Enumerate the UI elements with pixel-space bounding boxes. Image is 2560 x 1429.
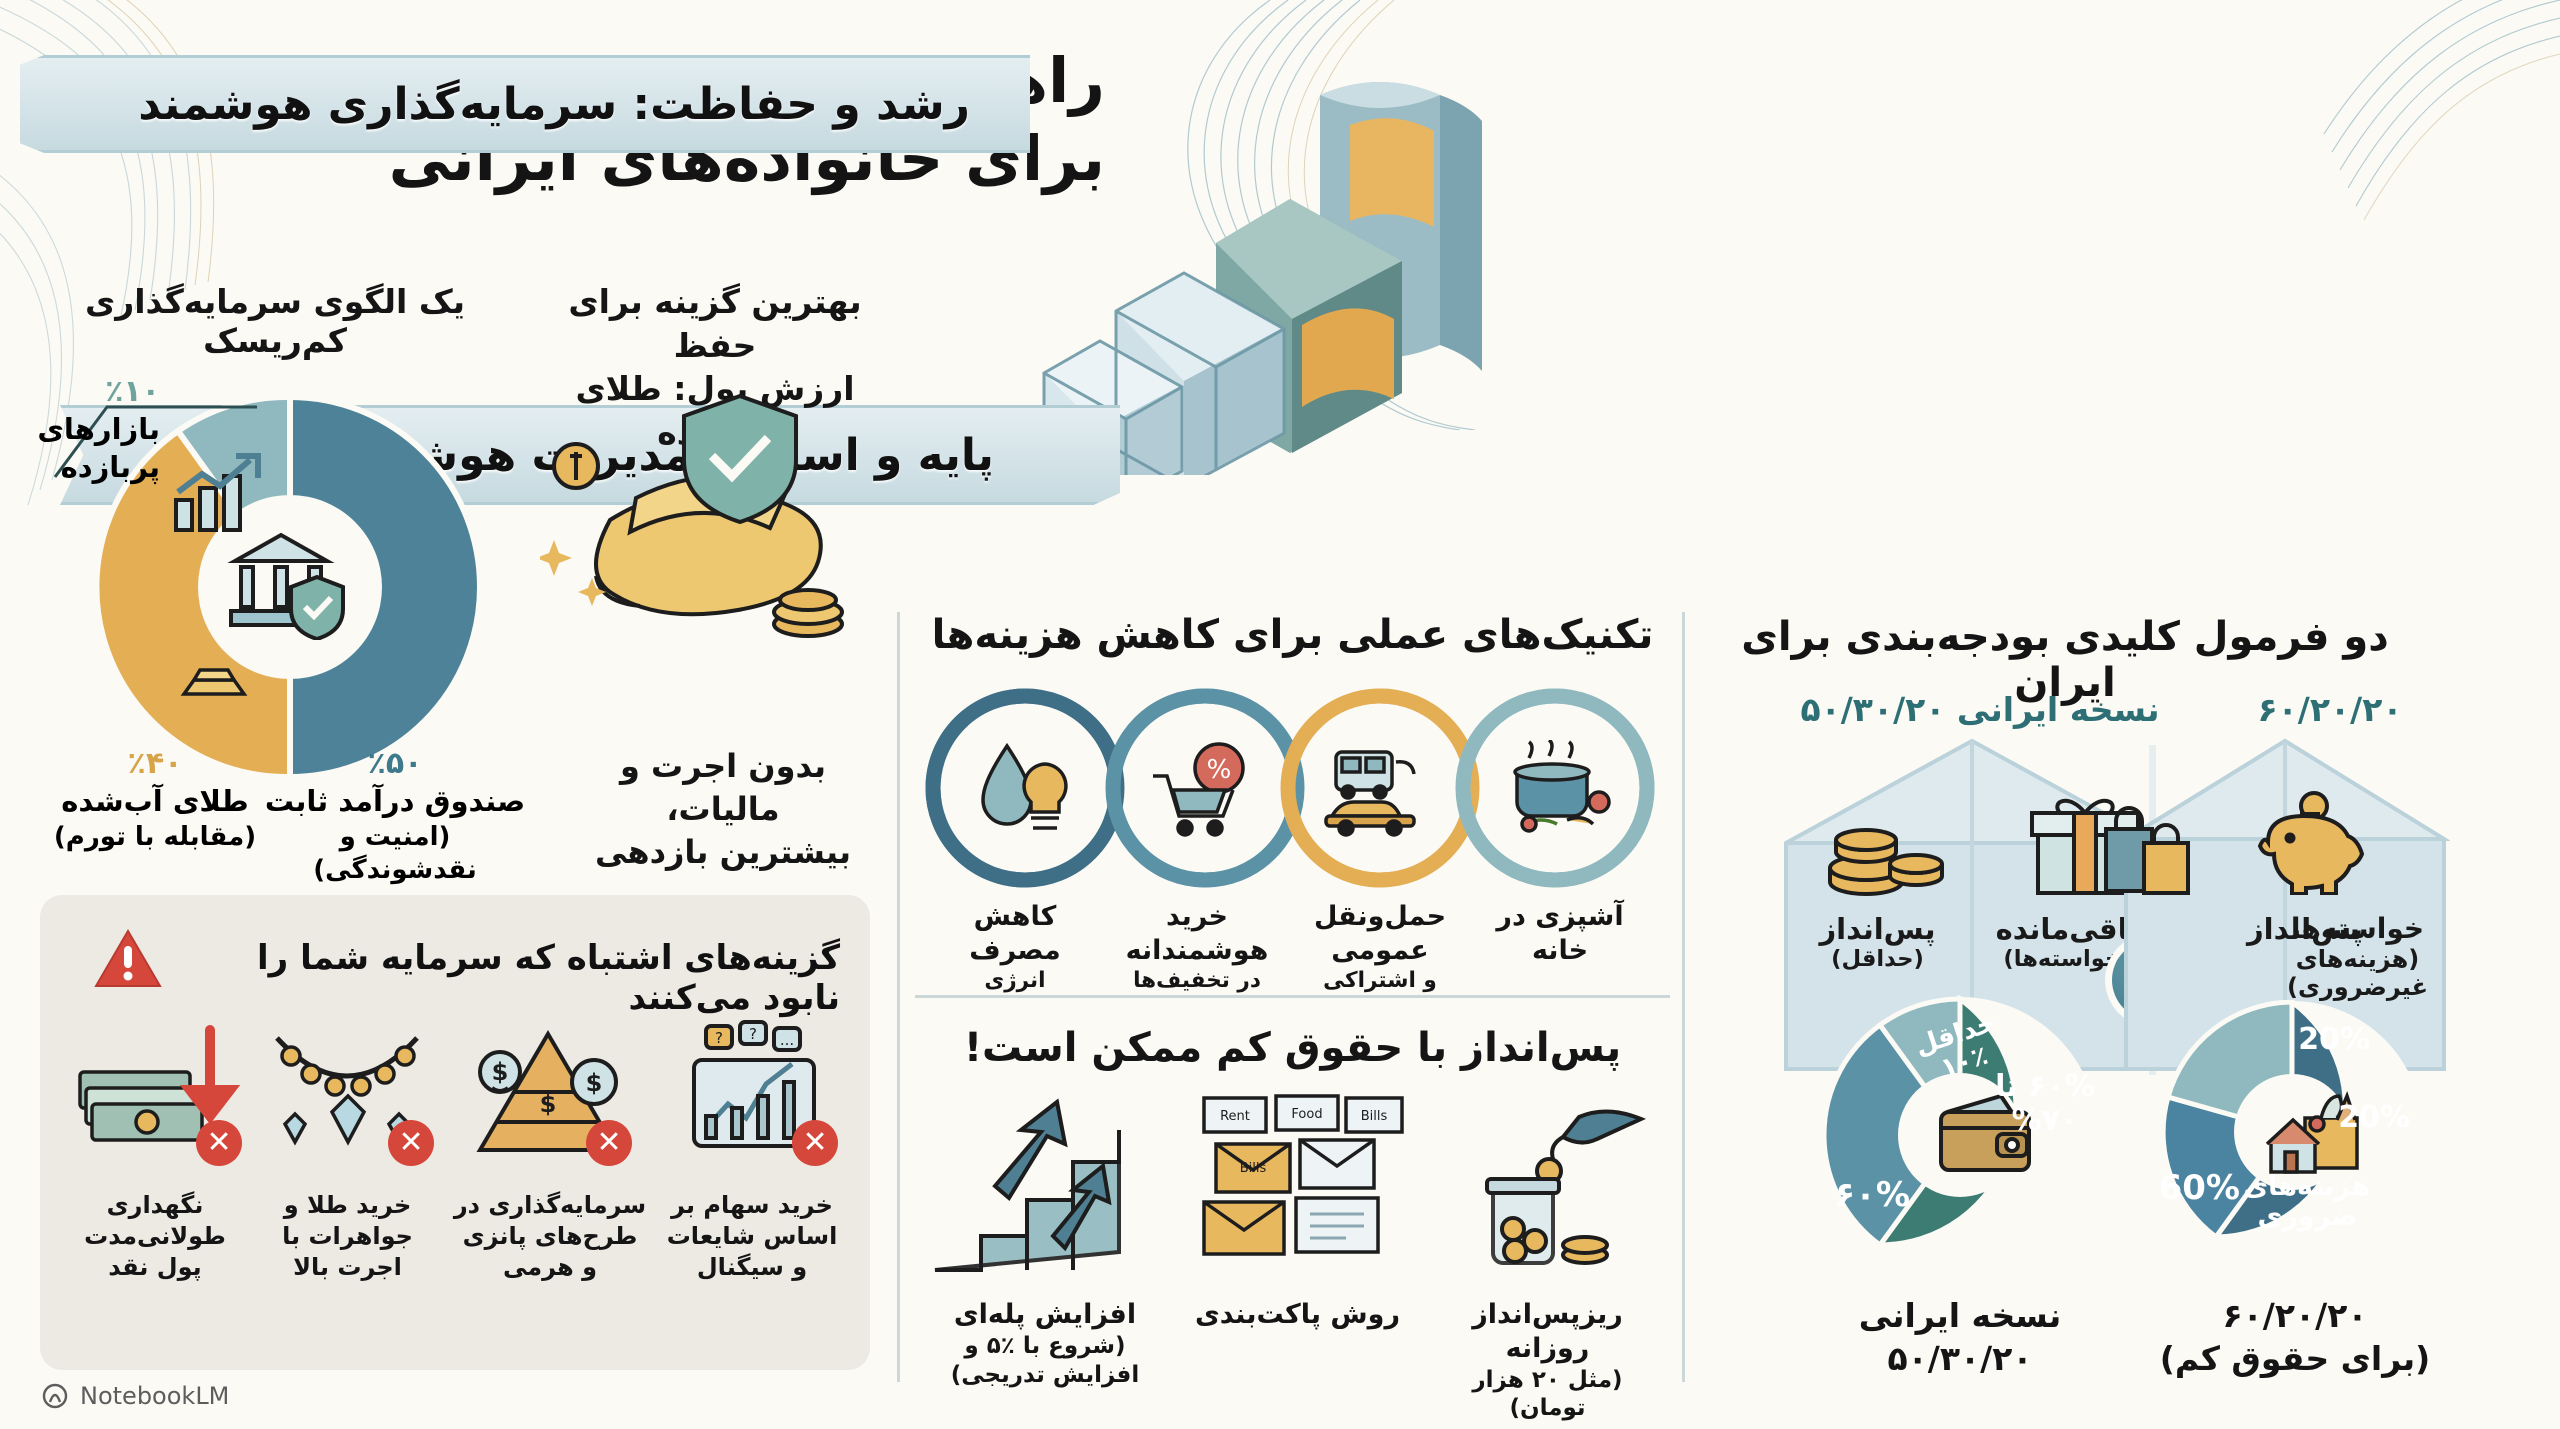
- warn-badge-cash: ✕: [196, 1120, 242, 1166]
- portfolio-legend-fixed-income: ٪۵۰ صندوق درآمد ثابت (امنیت و نقدشوندگی): [260, 744, 530, 888]
- warnings-title: گزینه‌های اشتباه که سرمایه شما را نابود …: [180, 938, 840, 1018]
- house-label-savings-min-main: پس‌انداز: [1790, 912, 1965, 946]
- cost-cutting-label-smart-shopping-text: خرید هوشمندانه: [1126, 901, 1269, 966]
- pie-602020-caption-line2: (برای حقوق کم): [2145, 1338, 2445, 1381]
- warn-label-jewelry: خرید طلا و جواهرات با اجرت بالا: [260, 1190, 435, 1284]
- low-income-heading: پس‌انداز با حقوق کم ممکن است!: [915, 1025, 1670, 1071]
- pie-iranian-caption-line2: ۵۰/۳۰/۲۰: [1815, 1338, 2105, 1381]
- budget-tag-602020: ۶۰/۲۰/۲۰: [2210, 690, 2450, 729]
- pie-602020-slice-label: هزینه‌های ضروری: [2245, 1172, 2370, 1232]
- svg-text:Bills: Bills: [1361, 1109, 1388, 1124]
- warn-badge-ponzi: ✕: [586, 1120, 632, 1166]
- pie-602020-value-60: 60%: [2159, 1168, 2240, 1208]
- pie-602020-slice-label-text: هزینه‌های ضروری: [2243, 1171, 2370, 1232]
- warn-label-stocks-l3: و سیگنال: [662, 1252, 842, 1283]
- cost-cutting-label-energy: کاهش مصرف انرژی: [925, 900, 1105, 994]
- low-income-label-micro-saving: ریزپس‌انداز روزانه (مثل ۲۰ هزار تومان): [1435, 1298, 1660, 1423]
- svg-text:$: $: [540, 1090, 557, 1118]
- portfolio-legend-fixed-income-sub: (امنیت و نقدشوندگی): [260, 821, 530, 889]
- water-drop-bulb-icon: [973, 740, 1073, 838]
- warn-label-jewelry-l3: اجرت بالا: [260, 1252, 435, 1283]
- gold-caption-line1: بدون اجرت و مالیات،: [558, 745, 888, 831]
- cooking-pot-icon: [1507, 740, 1612, 835]
- warn-label-ponzi-l1: سرمایه‌گذاری در: [450, 1190, 650, 1221]
- low-income-label-stepped-sub: (شروع با ٪۵ و افزایش تدریجی): [920, 1332, 1170, 1390]
- pie-iranian-value-60-70: ۶۰% تا ۷۰%: [1995, 1070, 2095, 1137]
- warn-label-jewelry-l2: جواهرات با: [260, 1221, 435, 1252]
- low-income-label-stepped-text: افزایش پله‌ای: [954, 1299, 1136, 1330]
- swirl-decoration-top-right: [2220, 0, 2560, 220]
- warn-label-cash: نگهداری طولانی‌مدت پول نقد: [65, 1190, 245, 1284]
- banner-growth-protection: رشد و حفاظت: سرمایه‌گذاری هوشمند: [20, 55, 1030, 153]
- notebooklm-logo-icon: [40, 1381, 70, 1411]
- warn-label-jewelry-l1: خرید طلا و: [260, 1190, 435, 1221]
- svg-text:...: ...: [780, 1031, 794, 1049]
- svg-text:Food: Food: [1291, 1107, 1322, 1122]
- coin-jar-icon: [1445, 1095, 1650, 1285]
- cost-cutting-label-transport: حمل‌ونقل عمومی و اشتراکی: [1290, 900, 1470, 994]
- warn-label-cash-l1: نگهداری: [65, 1190, 245, 1221]
- shopping-bags-icon: [2090, 795, 2200, 900]
- footer-brand-text: NotebookLM: [80, 1382, 229, 1410]
- portfolio-legend-gold-pct: ٪۴۰: [40, 744, 270, 783]
- warn-badge-jewelry-glyph: ✕: [398, 1128, 423, 1158]
- envelopes-icon: RentFoodBillsBills: [1190, 1090, 1410, 1285]
- house-label-savings-min: پس‌انداز (حداقل): [1790, 912, 1965, 972]
- warn-badge-cash-glyph: ✕: [206, 1128, 231, 1158]
- portfolio-legend-fixed-income-name: صندوق درآمد ثابت: [260, 783, 530, 821]
- warn-badge-stocks-glyph: ✕: [802, 1128, 827, 1158]
- portfolio-heading: یک الگوی سرمایه‌گذاری کم‌ریسک: [40, 282, 510, 360]
- gold-caption-line2: بیشترین بازدهی: [558, 831, 888, 874]
- gold-heading-line1: بهترین گزینه برای حفظ: [550, 280, 880, 367]
- warn-label-cash-l2: طولانی‌مدت: [65, 1221, 245, 1252]
- portfolio-legend-fixed-income-pct: ٪۵۰: [260, 744, 530, 783]
- cost-cutting-label-cooking: آشپزی در خانه: [1470, 900, 1650, 968]
- svg-text:$: $: [586, 1069, 603, 1097]
- svg-text:?: ?: [749, 1025, 757, 1043]
- banner-growth-protection-text: رشد و حفاظت: سرمایه‌گذاری هوشمند: [20, 79, 1030, 130]
- svg-text:?: ?: [715, 1029, 723, 1047]
- budget-tag-iranian: نسخه ایرانی ۵۰/۳۰/۲۰: [1800, 690, 2160, 729]
- pie-iranian-caption: نسخه ایرانی ۵۰/۳۰/۲۰: [1815, 1295, 2105, 1381]
- portfolio-legend-high-yield-name: بازارهای: [10, 411, 160, 449]
- pie-602020-value-20b: 20%: [2298, 1022, 2370, 1057]
- svg-text:$: $: [492, 1058, 509, 1086]
- cost-cutting-label-transport-text: حمل‌ونقل عمومی: [1314, 901, 1446, 966]
- warn-badge-jewelry: ✕: [388, 1120, 434, 1166]
- portfolio-legend-gold: ٪۴۰ طلای آب‌شده (مقابله با تورم): [40, 744, 270, 854]
- cost-cutting-heading: تکنیک‌های عملی برای کاهش هزینه‌ها: [915, 612, 1670, 658]
- bank-shield-icon: [225, 525, 355, 640]
- cost-cutting-label-energy-sub: انرژی: [925, 968, 1105, 995]
- warn-label-ponzi-l3: و هرمی: [450, 1252, 650, 1283]
- low-income-label-envelope-text: روش پاکت‌بندی: [1195, 1299, 1400, 1330]
- house-label-savings-min-sub: (حداقل): [1790, 946, 1965, 972]
- warn-label-stocks-l2: اساس شایعات: [662, 1221, 842, 1252]
- infographic-page: راهنمای پس‌انداز و حفظ ثروت برای خانواده…: [0, 0, 2560, 1429]
- divider-left-middle: [1682, 612, 1685, 1382]
- portfolio-legend-high-yield: ٪۱۰ بازارهای پربازده: [10, 372, 160, 486]
- gold-caption: بدون اجرت و مالیات، بیشترین بازدهی: [558, 745, 888, 875]
- shopping-cart-discount-icon: %: [1147, 742, 1255, 837]
- house-label-wants-main: خواسته‌ها: [2260, 912, 2455, 945]
- cost-cutting-label-cooking-text: آشپزی در خانه: [1496, 901, 1623, 966]
- pie-602020-caption-line1: ۶۰/۲۰/۲۰: [2145, 1295, 2445, 1338]
- piggy-bank-icon: [2250, 790, 2370, 895]
- low-income-label-stepped: افزایش پله‌ای (شروع با ٪۵ و افزایش تدریج…: [920, 1298, 1170, 1389]
- portfolio-legend-gold-sub: (مقابله با تورم): [40, 821, 270, 855]
- coins-icon: [1820, 790, 1950, 900]
- gold-bar-small-icon: [174, 660, 250, 710]
- portfolio-legend-high-yield-sub: پربازده: [10, 449, 160, 487]
- pie-iranian-value-60-70-text: ۶۰% تا ۷۰%: [1995, 1069, 2095, 1138]
- svg-text:%: %: [1207, 755, 1232, 785]
- house-label-wants: خواسته‌ها (هزینه‌های غیرضروری): [2260, 912, 2455, 1001]
- warn-label-ponzi-l2: طرح‌های پانزی: [450, 1221, 650, 1252]
- low-income-label-micro-saving-text: ریزپس‌انداز روزانه: [1472, 1299, 1623, 1364]
- divider-middle-horizontal: [915, 995, 1670, 998]
- warn-label-cash-l3: پول نقد: [65, 1252, 245, 1283]
- cost-cutting-label-smart-shopping-sub: در تخفیف‌ها: [1102, 968, 1292, 995]
- cost-cutting-label-smart-shopping: خرید هوشمندانه در تخفیف‌ها: [1102, 900, 1292, 994]
- portfolio-legend-gold-name: طلای آب‌شده: [40, 783, 270, 821]
- house-label-wants-sub: (هزینه‌های غیرضروری): [2260, 945, 2455, 1001]
- portfolio-legend-high-yield-pct: ٪۱۰: [10, 372, 160, 411]
- svg-text:Rent: Rent: [1220, 1109, 1250, 1124]
- pie-iranian-caption-line1: نسخه ایرانی: [1815, 1295, 2105, 1338]
- warn-badge-stocks: ✕: [792, 1120, 838, 1166]
- bus-car-icon: [1322, 742, 1432, 837]
- rising-stairs-arrow-icon: [925, 1090, 1140, 1285]
- gold-bar-shield-icon: [540, 390, 870, 690]
- pie-602020-value-20a: 20%: [2338, 1100, 2410, 1135]
- low-income-label-micro-saving-sub: (مثل ۲۰ هزار تومان): [1435, 1366, 1660, 1424]
- cost-cutting-label-energy-text: کاهش مصرف: [969, 901, 1060, 966]
- footer-brand: NotebookLM: [40, 1381, 229, 1411]
- pie-iranian-value-60: ۶۰%: [1834, 1175, 1910, 1215]
- divider-middle-right: [897, 612, 900, 1382]
- warn-label-stocks: خرید سهام بر اساس شایعات و سیگنال: [662, 1190, 842, 1284]
- warn-label-ponzi: سرمایه‌گذاری در طرح‌های پانزی و هرمی: [450, 1190, 650, 1284]
- low-income-label-envelope: روش پاکت‌بندی: [1190, 1298, 1405, 1332]
- pie-602020-caption: ۶۰/۲۰/۲۰ (برای حقوق کم): [2145, 1295, 2445, 1381]
- svg-text:Bills: Bills: [1240, 1161, 1267, 1176]
- warning-triangle-icon: [94, 928, 162, 990]
- cost-cutting-label-transport-sub: و اشتراکی: [1290, 968, 1470, 995]
- warn-badge-ponzi-glyph: ✕: [596, 1128, 621, 1158]
- warn-label-stocks-l1: خرید سهام بر: [662, 1190, 842, 1221]
